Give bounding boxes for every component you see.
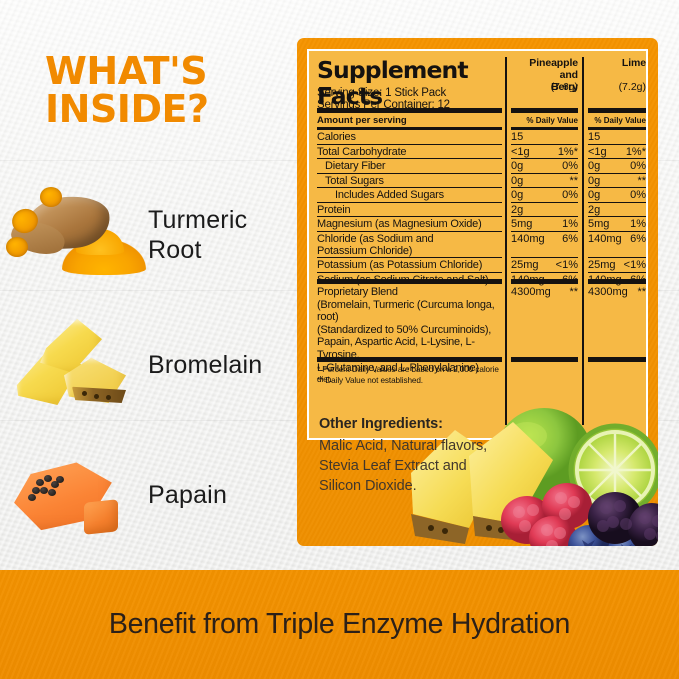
ingredients-column: WHAT'S INSIDE? Turmeric Root <box>0 0 300 570</box>
supplement-facts-panel: Supplement Facts Serving Size: 1 Stick P… <box>297 38 658 546</box>
ingredient-label-line-1: Turmeric <box>148 205 298 235</box>
nutrient-dv-col2: 1%* <box>586 146 646 159</box>
row-divider <box>588 158 646 159</box>
row-divider <box>511 202 578 203</box>
page-title-line-1: WHAT'S <box>45 52 295 90</box>
header-rule-col1 <box>511 108 578 113</box>
ingredient-label-bromelain: Bromelain <box>148 350 298 380</box>
footnote-rule-col1 <box>511 357 578 362</box>
nutrient-dv-col2: 0% <box>586 189 646 202</box>
papaya-icon <box>6 439 146 551</box>
nutrient-dv-col1: <1% <box>509 259 578 272</box>
column-header-line-1: Pineapple and <box>509 57 578 81</box>
column-divider-1 <box>505 57 507 425</box>
nutrient-name: Total Sugars <box>325 175 384 188</box>
column-header-lime: Lime <box>586 57 646 69</box>
row-divider <box>317 144 502 145</box>
nutrient-name: Dietary Fiber <box>325 160 385 173</box>
row-divider <box>317 173 502 174</box>
row-divider <box>317 272 502 273</box>
row-divider <box>317 257 502 258</box>
footnote-rule-col2 <box>588 357 646 362</box>
nutrient-dv-col1: 1% <box>509 218 578 231</box>
blend-top-rule-col2 <box>588 279 646 284</box>
subheader-rule-col2 <box>588 127 646 130</box>
other-ingredients-line-3: Silicon Dioxide. <box>319 476 519 496</box>
nutrient-dv-col1: 1%* <box>509 146 578 159</box>
row-divider <box>588 144 646 145</box>
row-divider <box>588 231 646 232</box>
nutrient-name: Chloride (as Sodium and <box>317 233 433 246</box>
row-divider <box>511 257 578 258</box>
subheader-rule-left <box>317 127 502 130</box>
blend-top-rule-left <box>317 279 502 284</box>
amount-per-serving-label: Amount per serving <box>317 115 407 126</box>
nutrient-name: Protein <box>317 204 350 217</box>
row-divider <box>588 202 646 203</box>
nutrient-name-line-2: Potassium Chloride) <box>317 245 412 258</box>
ingredient-label-line-1: Bromelain <box>148 350 298 380</box>
nutrient-amount-col1: 15 <box>511 131 523 144</box>
row-divider <box>511 216 578 217</box>
turmeric-root-icon <box>6 179 146 291</box>
nutrient-amount-col2: 15 <box>588 131 600 144</box>
banner-text: Benefit from Triple Enzyme Hydration <box>0 570 679 679</box>
row-divider <box>511 173 578 174</box>
row-divider <box>317 158 502 159</box>
other-ingredients-line-1: Malic Acid, Natural flavors, <box>319 436 519 456</box>
nutrient-dv-col2: <1% <box>586 259 646 272</box>
page-title: WHAT'S INSIDE? <box>45 52 295 128</box>
nutrient-name: Calories <box>317 131 356 144</box>
supplement-infographic: WHAT'S INSIDE? Turmeric Root <box>0 0 679 679</box>
nutrient-dv-col1: 0% <box>509 189 578 202</box>
blend-top-rule-col1 <box>511 279 578 284</box>
header-rule-left <box>317 108 502 113</box>
other-ingredients-title: Other Ingredients: <box>319 416 443 432</box>
subheader-rule-col1 <box>511 127 578 130</box>
nutrient-amount-col1: 2g <box>511 204 523 217</box>
nutrient-dv-col1: ** <box>509 175 578 188</box>
blend-dv-col1: ** <box>509 286 578 299</box>
nutrient-name: Includes Added Sugars <box>335 189 444 202</box>
pineapple-icon <box>6 309 146 421</box>
daily-value-label-col2: % Daily Value <box>586 116 646 126</box>
row-divider <box>588 272 646 273</box>
ingredient-label-line-1: Papain <box>148 480 298 510</box>
blend-line-2: (Bromelain, Turmeric (Curcuma longa, roo… <box>317 299 502 324</box>
ingredient-item-bromelain: Bromelain <box>0 305 300 425</box>
other-ingredients-line-2: Stevia Leaf Extract and <box>319 456 519 476</box>
column-grams-pineapple-berry: (7.6g) <box>509 81 578 93</box>
row-divider <box>317 202 502 203</box>
ingredient-label-turmeric: Turmeric Root <box>148 205 298 265</box>
nutrient-name: Potassium (as Potassium Chloride) <box>317 259 482 272</box>
column-grams-lime: (7.2g) <box>586 81 646 93</box>
nutrient-name: Total Carbohydrate <box>317 146 406 159</box>
nutrient-name: Magnesium (as Magnesium Oxide) <box>317 218 482 231</box>
row-divider <box>511 231 578 232</box>
blend-dv-col2: ** <box>586 286 646 299</box>
nutrient-dv-col2: 6% <box>586 233 646 246</box>
row-divider <box>511 272 578 273</box>
ingredient-item-papain: Papain <box>0 435 300 555</box>
blend-line-3: (Standardized to 50% Curcuminoids), <box>317 324 502 337</box>
row-divider <box>317 216 502 217</box>
footnote-rule-left <box>317 357 502 362</box>
row-divider <box>588 216 646 217</box>
row-divider <box>511 187 578 188</box>
nutrient-dv-col2: 1% <box>586 218 646 231</box>
daily-value-label-col1: % Daily Value <box>509 116 578 126</box>
page-title-line-2: INSIDE? <box>45 90 295 128</box>
ingredient-item-turmeric: Turmeric Root <box>0 175 300 295</box>
ingredient-label-papain: Papain <box>148 480 298 510</box>
header-rule-col2 <box>588 108 646 113</box>
nutrient-amount-col2: 2g <box>588 204 600 217</box>
row-divider <box>317 231 502 232</box>
row-divider <box>588 257 646 258</box>
row-divider <box>511 144 578 145</box>
bottom-banner: Benefit from Triple Enzyme Hydration <box>0 570 679 679</box>
nutrient-dv-col1: 0% <box>509 160 578 173</box>
column-header-line-1: Lime <box>586 57 646 69</box>
row-divider <box>588 187 646 188</box>
ingredient-label-line-2: Root <box>148 235 298 265</box>
row-divider <box>317 187 502 188</box>
column-divider-2 <box>582 57 584 425</box>
row-divider <box>511 158 578 159</box>
nutrient-dv-col1: 6% <box>509 233 578 246</box>
other-ingredients-text: Malic Acid, Natural flavors, Stevia Leaf… <box>319 436 519 496</box>
nutrient-dv-col2: ** <box>586 175 646 188</box>
nutrient-dv-col2: 0% <box>586 160 646 173</box>
blend-line-1: Proprietary Blend <box>317 286 502 299</box>
row-divider <box>588 173 646 174</box>
